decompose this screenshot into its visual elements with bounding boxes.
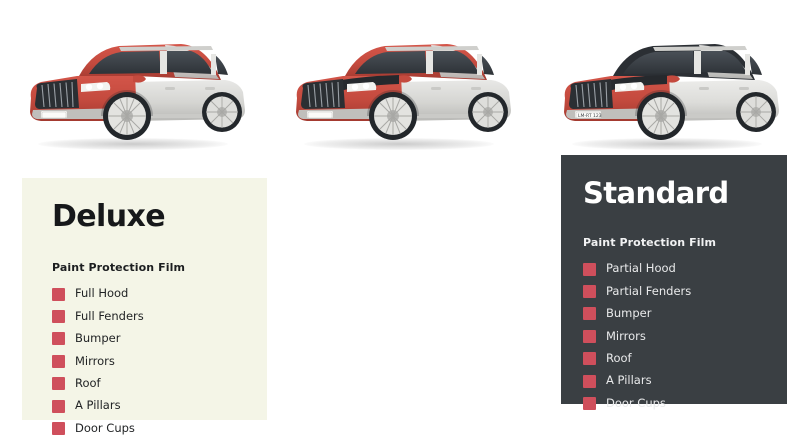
feature-label: Full Fenders bbox=[75, 311, 144, 323]
list-item: Roof bbox=[52, 373, 267, 395]
list-item: Full Fenders bbox=[52, 305, 267, 327]
swatch-icon bbox=[52, 310, 65, 323]
package-column-deluxe: Deluxe Paint Protection Film Full Hood F… bbox=[0, 0, 266, 446]
svg-text:LM-RT 123: LM-RT 123 bbox=[578, 113, 602, 119]
swatch-icon bbox=[52, 422, 65, 435]
feature-label: Mirrors bbox=[75, 356, 115, 368]
feature-label: Door Cups bbox=[75, 423, 135, 435]
feature-label: Bumper bbox=[75, 333, 120, 345]
car-image-deluxe bbox=[0, 18, 266, 158]
feature-label: Full Hood bbox=[75, 288, 128, 300]
list-item: Bumper bbox=[52, 328, 267, 350]
list-item: Mirrors bbox=[52, 350, 267, 372]
list-item: A Pillars bbox=[52, 395, 267, 417]
swatch-icon bbox=[52, 288, 65, 301]
package-column-basic: LM-RT 123 Basic Paint Protection Film Pa… bbox=[534, 0, 800, 446]
car-illustration: LM-RT 123 bbox=[549, 24, 785, 148]
list-item: Door Cups bbox=[52, 417, 267, 439]
page-title: Deluxe bbox=[52, 202, 267, 232]
list-item: Full Hood bbox=[52, 283, 267, 305]
feature-list: Full Hood Full Fenders Bumper Mirrors Ro… bbox=[52, 283, 267, 440]
swatch-icon bbox=[52, 400, 65, 413]
car-illustration bbox=[281, 24, 517, 148]
package-panel-deluxe: Deluxe Paint Protection Film Full Hood F… bbox=[22, 178, 267, 420]
car-illustration bbox=[15, 24, 251, 148]
swatch-icon bbox=[52, 332, 65, 345]
swatch-icon bbox=[52, 355, 65, 368]
car-image-basic: LM-RT 123 bbox=[534, 18, 800, 158]
package-column-standard: Standard Paint Protection Film Partial H… bbox=[266, 0, 532, 446]
car-image-standard bbox=[266, 18, 532, 158]
section-label: Paint Protection Film bbox=[52, 261, 267, 274]
feature-label: A Pillars bbox=[75, 400, 121, 412]
comparison-stage: Deluxe Paint Protection Film Full Hood F… bbox=[0, 0, 800, 446]
feature-label: Roof bbox=[75, 378, 101, 390]
swatch-icon bbox=[52, 377, 65, 390]
